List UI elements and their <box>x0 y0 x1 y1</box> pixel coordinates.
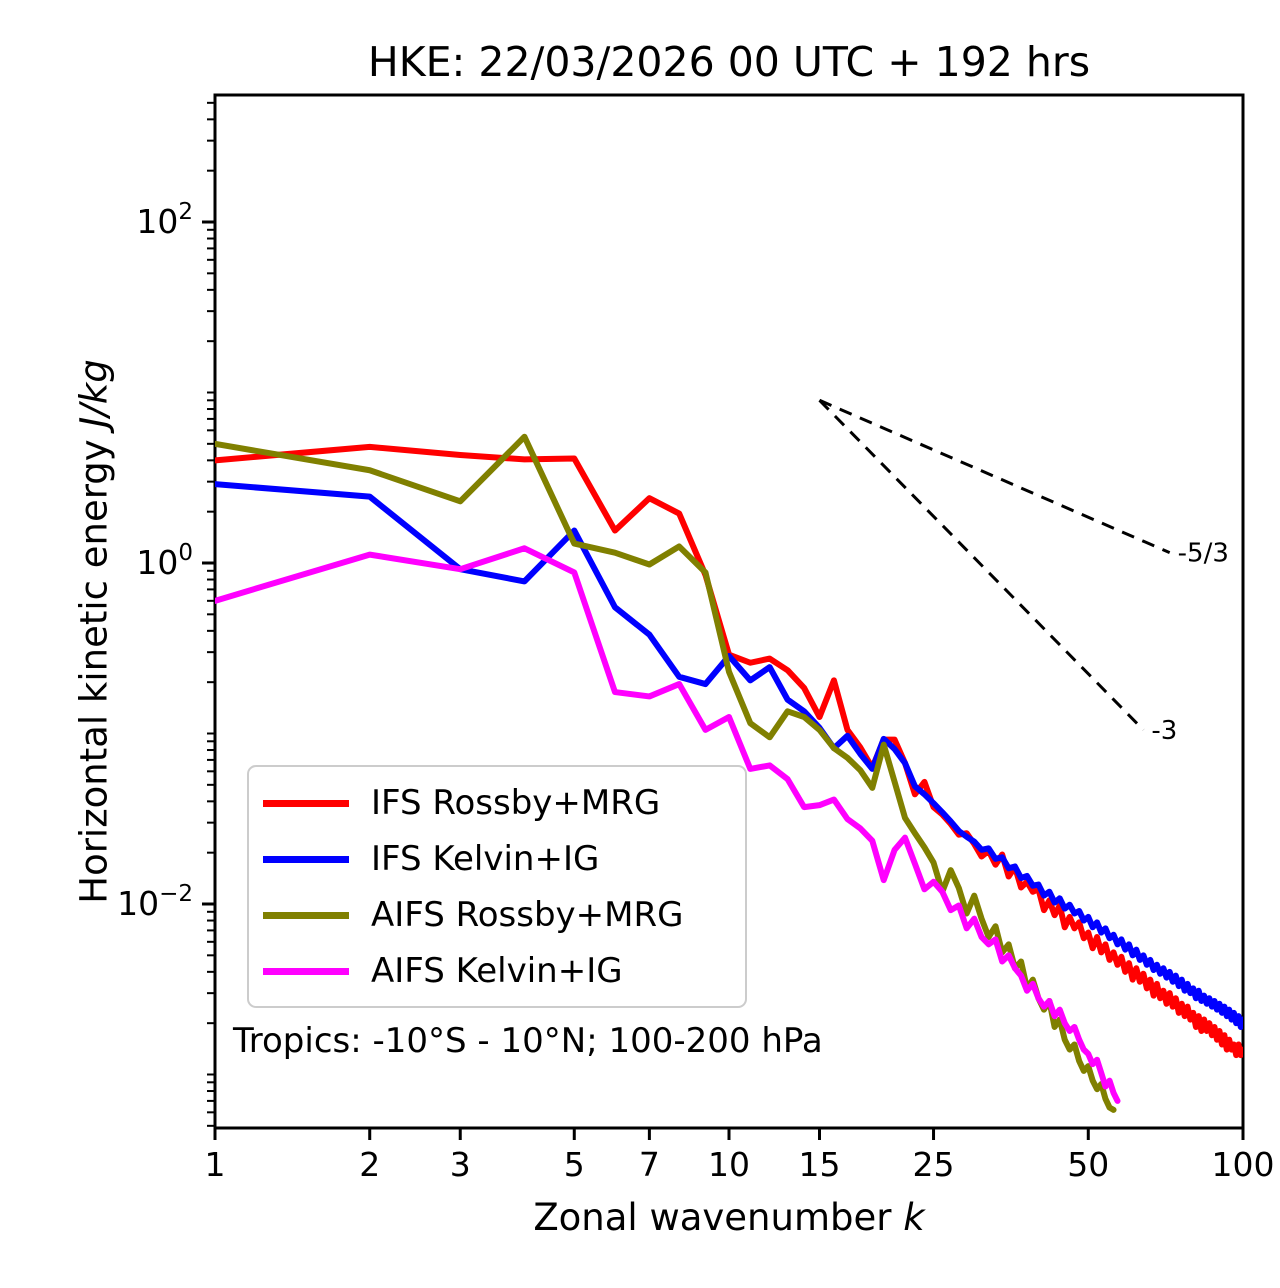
legend-item[interactable]: AIFS Kelvin+IG <box>263 945 623 997</box>
x-tick-label: 50 <box>1067 1145 1109 1184</box>
legend-item[interactable]: AIFS Rossby+MRG <box>263 889 683 941</box>
x-tick-label: 15 <box>799 1145 841 1184</box>
x-tick-label: 1 <box>205 1145 226 1184</box>
legend-color-swatch <box>263 968 349 975</box>
reference-line-label: -3 <box>1151 716 1177 746</box>
reference-line-label: -5/3 <box>1178 539 1229 569</box>
x-tick-label: 7 <box>639 1145 660 1184</box>
legend-color-swatch <box>263 856 349 863</box>
y-tick-label: 10−2 <box>117 881 193 923</box>
reference-line <box>820 400 1144 730</box>
region-annotation: Tropics: -10°S - 10°N; 100-200 hPa <box>233 1021 823 1061</box>
legend-label: AIFS Kelvin+IG <box>371 954 623 988</box>
y-axis-ticks: 10210010−2 <box>117 103 215 1126</box>
legend-item[interactable]: IFS Rossby+MRG <box>263 777 660 829</box>
reference-slope-lines: -5/3-3 <box>820 400 1229 746</box>
legend-label: AIFS Rossby+MRG <box>371 898 683 932</box>
x-axis-ticks: 1235710152550100 <box>205 1128 1275 1184</box>
reference-line <box>820 400 1170 552</box>
legend-color-swatch <box>263 800 349 807</box>
x-tick-label: 100 <box>1212 1145 1275 1184</box>
x-tick-label: 10 <box>708 1145 750 1184</box>
y-tick-label: 102 <box>136 199 193 241</box>
legend-item[interactable]: IFS Kelvin+IG <box>263 833 599 885</box>
x-tick-label: 3 <box>450 1145 471 1184</box>
y-tick-label: 100 <box>136 540 193 582</box>
figure-canvas: HKE: 22/03/2026 00 UTC + 192 hrs Horizon… <box>0 0 1280 1288</box>
legend-label: IFS Rossby+MRG <box>371 786 660 820</box>
plot-area: 1235710152550100 10210010−2 -5/3-3 <box>0 0 1280 1288</box>
x-tick-label: 5 <box>564 1145 585 1184</box>
x-tick-label: 2 <box>359 1145 380 1184</box>
x-tick-label: 25 <box>913 1145 955 1184</box>
legend-color-swatch <box>263 912 349 919</box>
legend: IFS Rossby+MRGIFS Kelvin+IGAIFS Rossby+M… <box>247 765 747 1008</box>
legend-label: IFS Kelvin+IG <box>371 842 599 876</box>
